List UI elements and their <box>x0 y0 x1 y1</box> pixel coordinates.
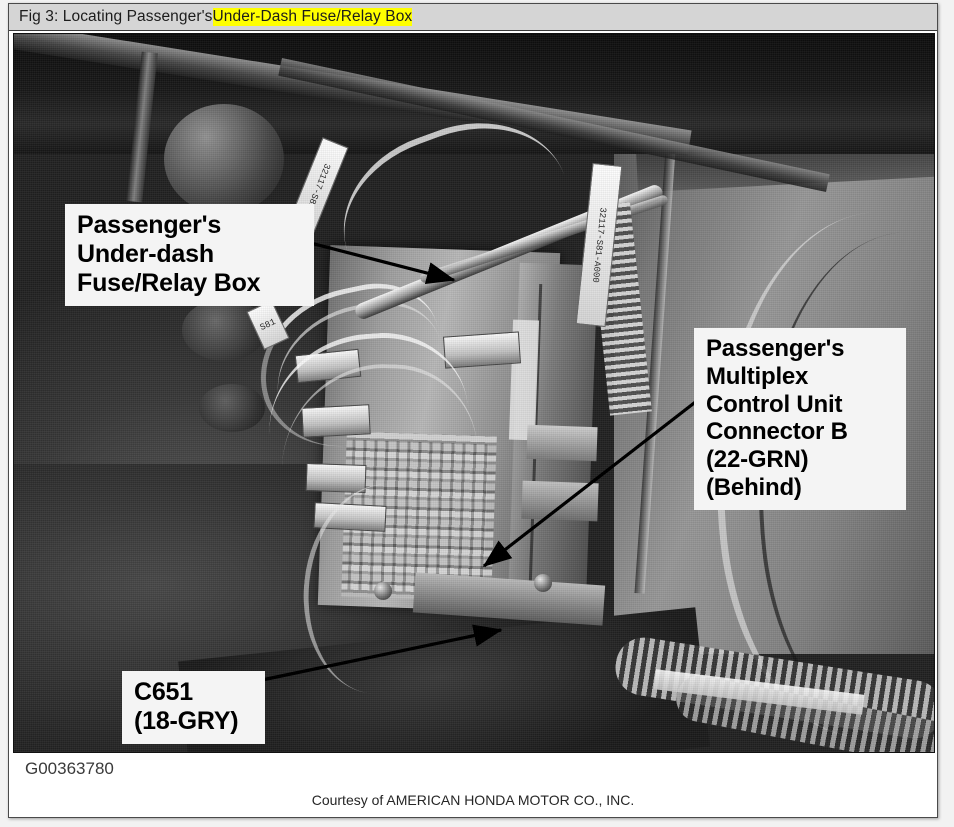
callout-multiplex-line2: Multiplex <box>706 363 894 391</box>
callout-c651-line1: C651 <box>134 678 253 707</box>
figure-title-bar: Fig 3: Locating Passenger's Under-Dash F… <box>9 4 937 31</box>
callout-multiplex-line5: (22-GRN) <box>706 446 894 474</box>
figure-photo: 32117-S81 32117-S81-A000 S81 <box>13 33 935 753</box>
callout-c651-connector: C651 (18-GRY) <box>122 671 265 744</box>
figure-viewer-page: Fig 3: Locating Passenger's Under-Dash F… <box>0 0 954 827</box>
callout-multiplex-line3: Control Unit <box>706 391 894 419</box>
callout-fuse-relay-box: Passenger's Under-dash Fuse/Relay Box <box>65 204 314 306</box>
callout-multiplex-control-unit: Passenger's Multiplex Control Unit Conne… <box>694 328 906 510</box>
figure-frame: Fig 3: Locating Passenger's Under-Dash F… <box>8 3 938 818</box>
callout-fuse-relay-box-line2: Under-dash <box>77 240 302 269</box>
callout-fuse-relay-box-line1: Passenger's <box>77 211 302 240</box>
callout-c651-line2: (18-GRY) <box>134 707 253 736</box>
callout-fuse-relay-box-line3: Fuse/Relay Box <box>77 269 302 298</box>
callout-multiplex-line6: (Behind) <box>706 474 894 502</box>
callout-multiplex-line4: Connector B <box>706 418 894 446</box>
callout-multiplex-line1: Passenger's <box>706 335 894 363</box>
figure-title-highlighted-term: Under-Dash Fuse/Relay Box <box>213 8 413 26</box>
figure-image-id: G00363780 <box>25 759 114 779</box>
figure-title-prefix: Fig 3: Locating Passenger's <box>19 8 213 26</box>
figure-courtesy-line: Courtesy of AMERICAN HONDA MOTOR CO., IN… <box>9 792 937 808</box>
